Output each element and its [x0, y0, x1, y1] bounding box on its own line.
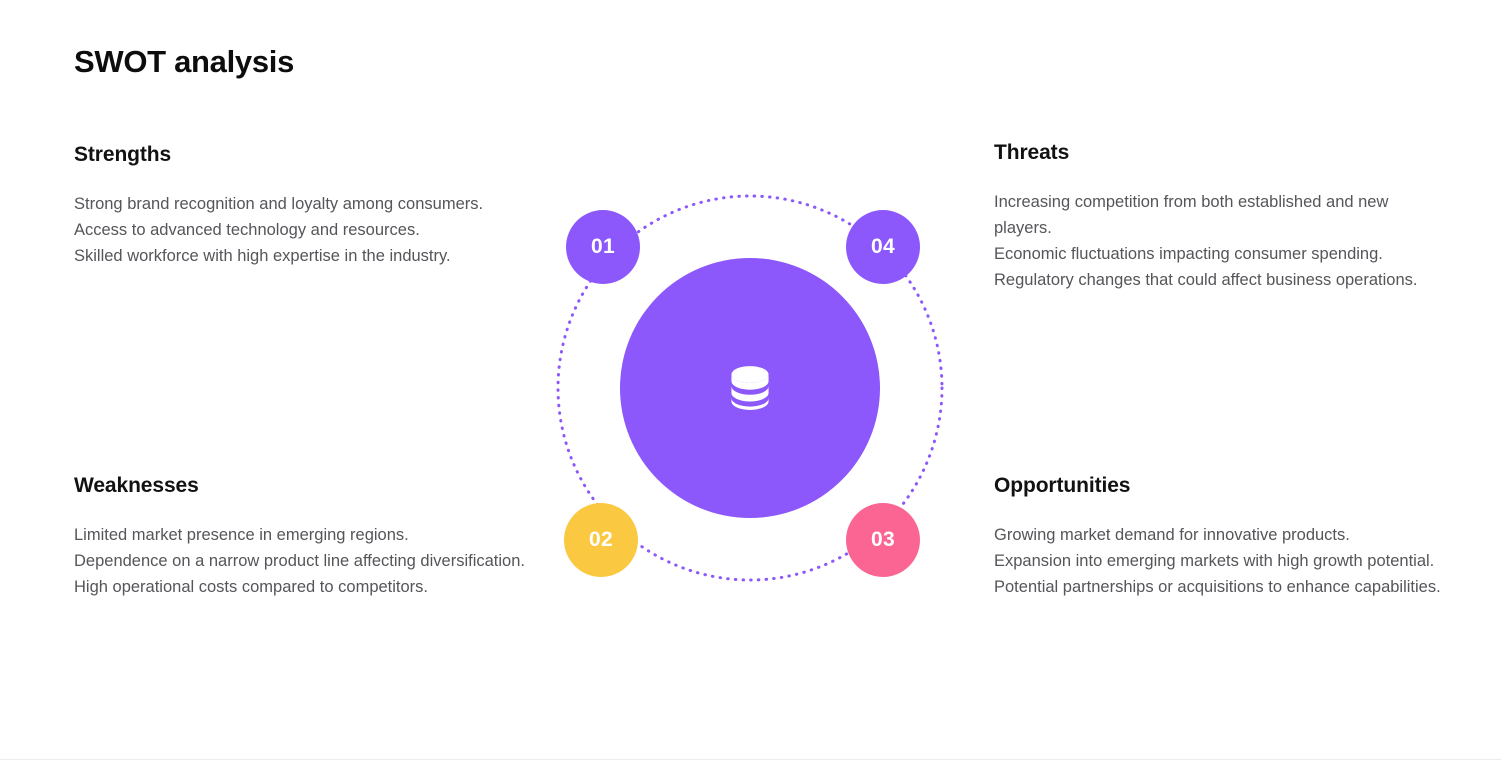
quadrant-weaknesses-line-1: Limited market presence in emerging regi…	[74, 522, 594, 548]
quadrant-weaknesses-body: Limited market presence in emerging regi…	[74, 522, 594, 600]
quadrant-opportunities-line-2: Expansion into emerging markets with hig…	[994, 548, 1446, 574]
diagram-node-01[interactable]: 01	[566, 210, 640, 284]
quadrant-weaknesses: Weaknesses Limited market presence in em…	[74, 473, 594, 600]
diagram-node-01-label: 01	[591, 235, 615, 259]
quadrant-strengths-line-2: Access to advanced technology and resour…	[74, 217, 594, 243]
diagram-node-03-label: 03	[871, 528, 895, 552]
quadrant-strengths-line-1: Strong brand recognition and loyalty amo…	[74, 191, 594, 217]
swot-diagram: 01 04 02 03	[550, 188, 950, 588]
quadrant-threats-body: Increasing competition from both establi…	[994, 189, 1446, 293]
diagram-node-02[interactable]: 02	[564, 503, 638, 577]
quadrant-weaknesses-line-3: High operational costs compared to compe…	[74, 574, 594, 600]
quadrant-threats-title: Threats	[994, 140, 1446, 165]
quadrant-strengths-title: Strengths	[74, 142, 594, 167]
diagram-node-03[interactable]: 03	[846, 503, 920, 577]
quadrant-opportunities-line-3: Potential partnerships or acquisitions t…	[994, 574, 1446, 600]
quadrant-opportunities: Opportunities Growing market demand for …	[994, 473, 1446, 600]
quadrant-strengths-line-3: Skilled workforce with high expertise in…	[74, 243, 594, 269]
quadrant-threats-line-2: Economic fluctuations impacting consumer…	[994, 241, 1446, 267]
quadrant-weaknesses-line-2: Dependence on a narrow product line affe…	[74, 548, 594, 574]
quadrant-threats-line-1: Increasing competition from both establi…	[994, 189, 1446, 241]
quadrant-threats-line-3: Regulatory changes that could affect bus…	[994, 267, 1446, 293]
page-title: SWOT analysis	[74, 43, 294, 80]
diagram-node-04-label: 04	[871, 235, 895, 259]
database-stack-icon	[723, 361, 777, 415]
quadrant-opportunities-line-1: Growing market demand for innovative pro…	[994, 522, 1446, 548]
diagram-node-02-label: 02	[589, 528, 613, 552]
quadrant-strengths-body: Strong brand recognition and loyalty amo…	[74, 191, 594, 269]
quadrant-opportunities-title: Opportunities	[994, 473, 1446, 498]
diagram-node-04[interactable]: 04	[846, 210, 920, 284]
diagram-hub	[620, 258, 880, 518]
swot-slide: SWOT analysis Strengths Strong brand rec…	[0, 0, 1501, 760]
quadrant-strengths: Strengths Strong brand recognition and l…	[74, 142, 594, 269]
quadrant-threats: Threats Increasing competition from both…	[994, 140, 1446, 293]
quadrant-opportunities-body: Growing market demand for innovative pro…	[994, 522, 1446, 600]
quadrant-weaknesses-title: Weaknesses	[74, 473, 594, 498]
